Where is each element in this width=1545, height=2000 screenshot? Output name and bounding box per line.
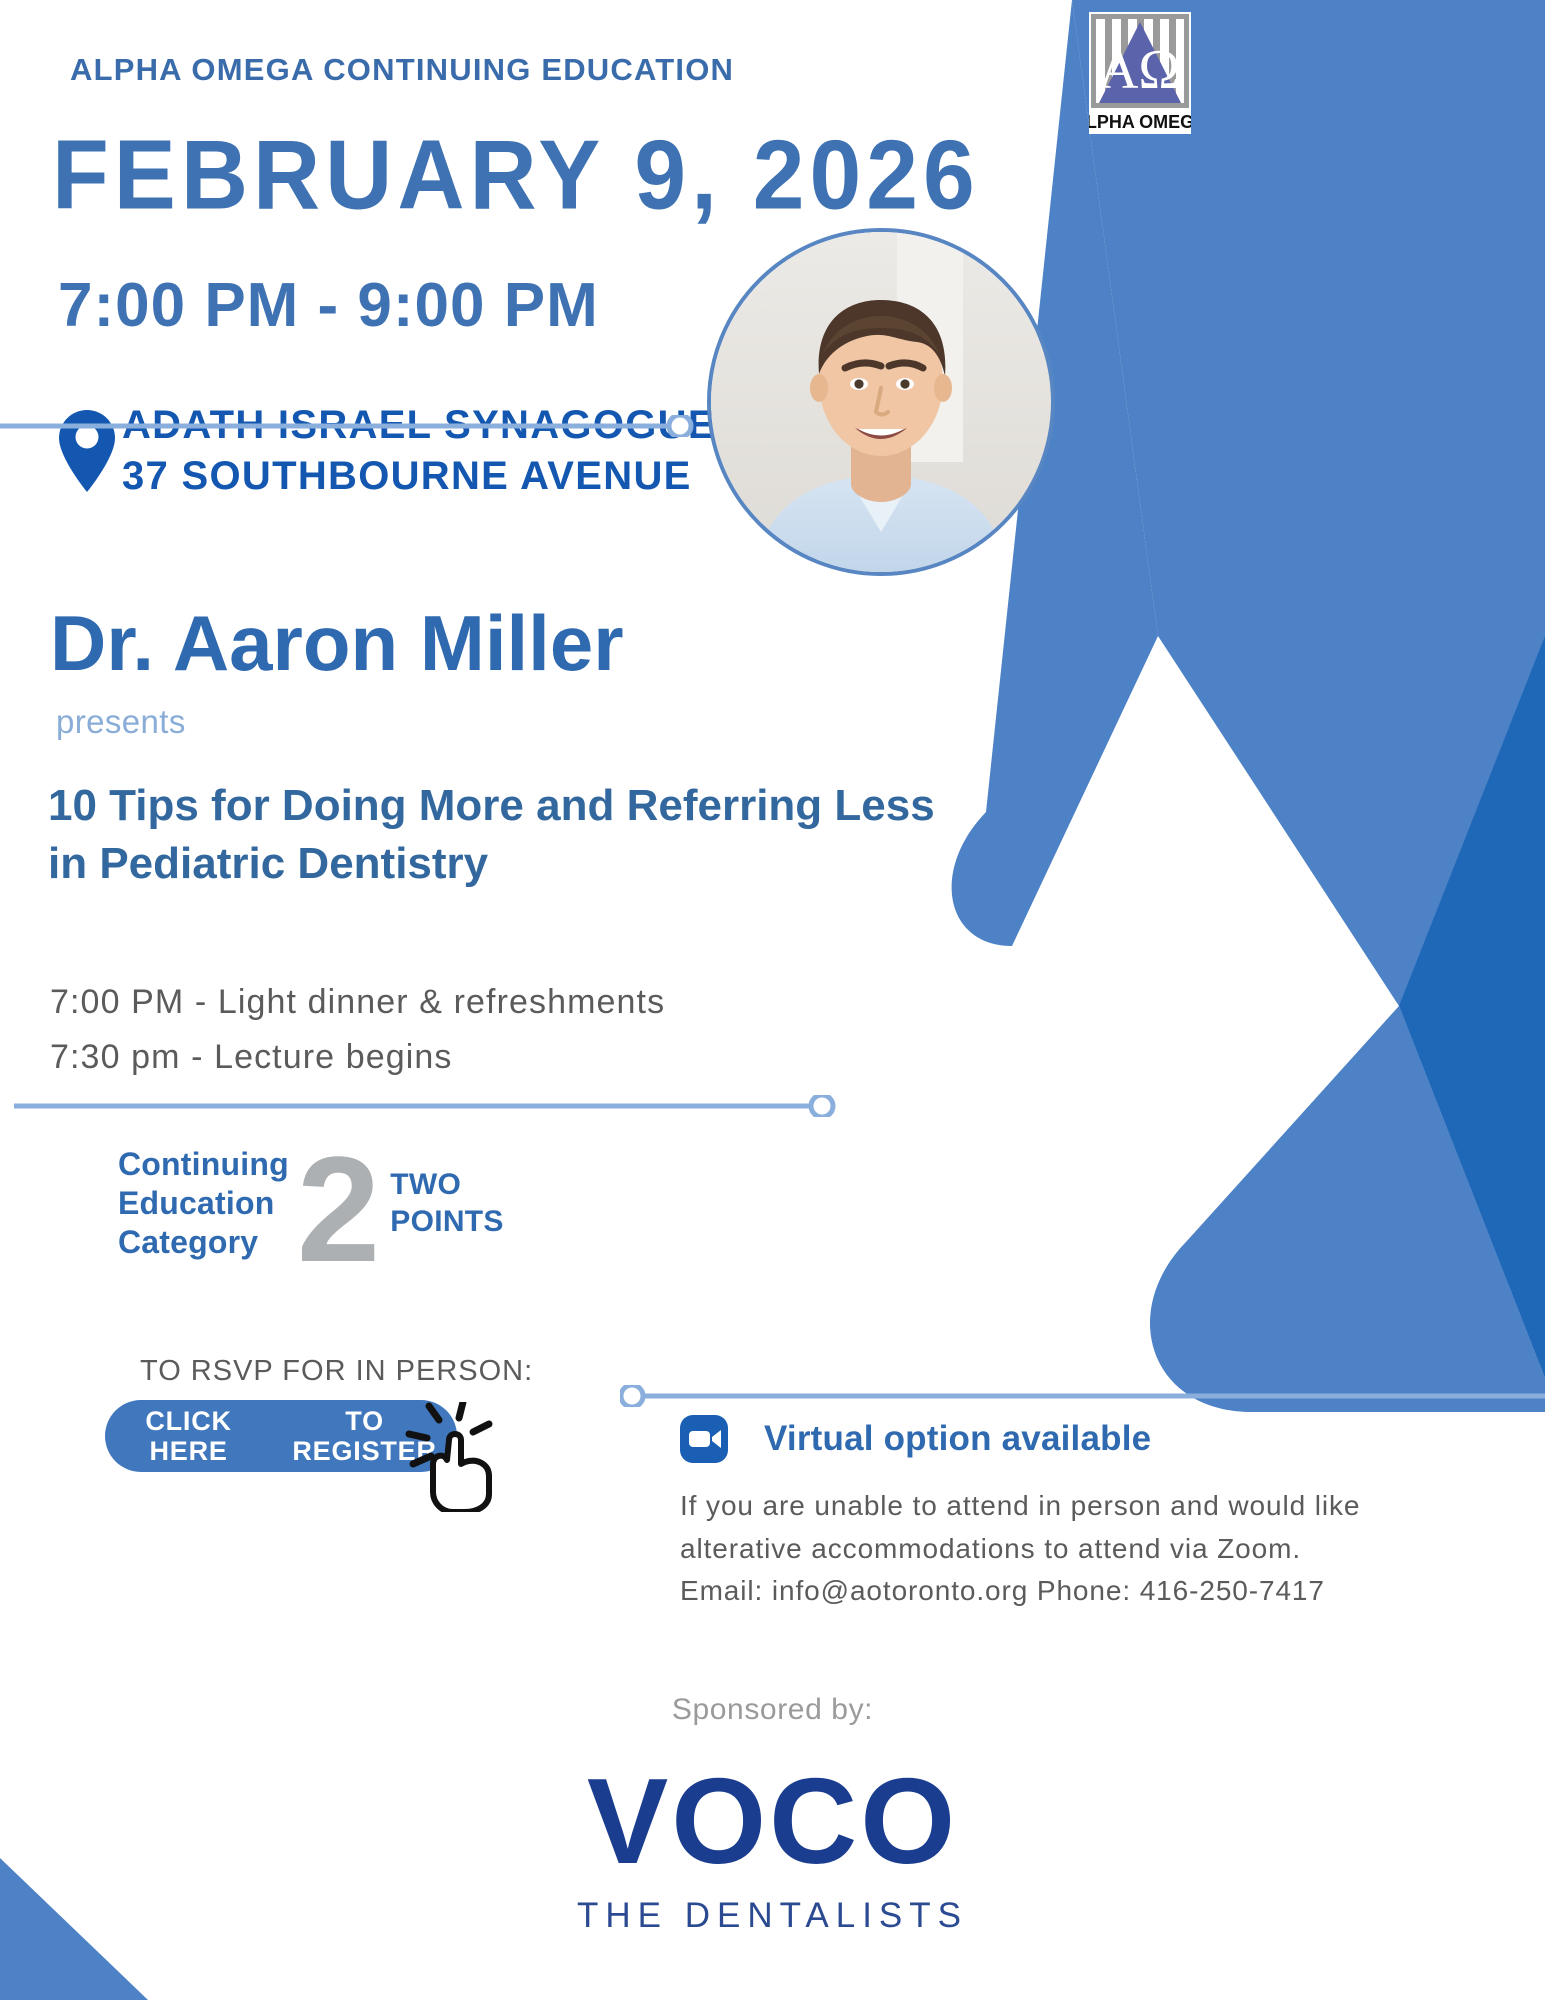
zoom-video-icon [680, 1415, 728, 1463]
flyer-content: AΩ ALPHA OMEGA ALPHA OMEGA CONTINUING ED… [0, 0, 1545, 2000]
voco-sponsor-logo: VOCO THE DENTALISTS [0, 1760, 1545, 1936]
agenda-item: 7:00 PM - Light dinner & refreshments [50, 975, 950, 1030]
ce-category-label: Continuing Education Category [118, 1145, 289, 1262]
ce-points-line: POINTS [390, 1204, 503, 1241]
ce-category-line: Continuing [118, 1145, 289, 1184]
logo-text: ALPHA OMEGA [1089, 112, 1191, 132]
virtual-option-title: Virtual option available [764, 1419, 1151, 1459]
venue-address: 37 SOUTHBOURNE AVENUE [122, 451, 716, 502]
register-button-line-1: CLICK HERE [105, 1406, 272, 1466]
virtual-text-line: alterative accommodations to attend via … [680, 1528, 1400, 1571]
agenda-item: 7:30 pm - Lecture begins [50, 1030, 950, 1085]
virtual-text-line: If you are unable to attend in person an… [680, 1485, 1400, 1528]
lecture-title: 10 Tips for Doing More and Referring Les… [48, 777, 948, 893]
speaker-name: Dr. Aaron Miller [50, 604, 624, 682]
event-date: FEBRUARY 9, 2026 [52, 126, 980, 225]
virtual-contact-line: Email: info@aotoronto.org Phone: 416-250… [680, 1570, 1400, 1613]
continuing-education-block: Continuing Education Category 2 TWO POIN… [118, 1145, 504, 1262]
voco-tagline: THE DENTALISTS [0, 1896, 1545, 1936]
presents-label: presents [56, 703, 186, 741]
agenda-list: 7:00 PM - Light dinner & refreshments 7:… [50, 975, 950, 1085]
divider-rule-middle [14, 1095, 844, 1117]
virtual-option-header: Virtual option available [680, 1415, 1400, 1463]
voco-wordmark: VOCO [0, 1760, 1545, 1882]
alpha-omega-logo: AΩ ALPHA OMEGA [1089, 12, 1191, 134]
event-time: 7:00 PM - 9:00 PM [58, 275, 599, 337]
virtual-option-block: Virtual option available If you are unab… [680, 1415, 1400, 1613]
speaker-headshot-avatar [707, 228, 1055, 576]
svg-text:AΩ: AΩ [1098, 39, 1180, 101]
sponsored-by-label: Sponsored by: [0, 1693, 1545, 1727]
ce-points-label: TWO POINTS [390, 1167, 503, 1240]
rsvp-label: TO RSVP FOR IN PERSON: [140, 1355, 533, 1388]
divider-rule-virtual [620, 1385, 1545, 1407]
click-cursor-icon [373, 1402, 513, 1512]
ce-category-line: Category [118, 1223, 289, 1262]
virtual-option-body: If you are unable to attend in person an… [680, 1485, 1400, 1613]
divider-rule-top [0, 415, 700, 437]
ce-points-number: 2 [297, 1151, 380, 1268]
ce-category-line: Education [118, 1184, 289, 1223]
page-title: ALPHA OMEGA CONTINUING EDUCATION [70, 52, 734, 88]
ce-points-line: TWO [390, 1167, 503, 1204]
register-cta-group: CLICK HERE TO REGISTER [105, 1400, 555, 1478]
